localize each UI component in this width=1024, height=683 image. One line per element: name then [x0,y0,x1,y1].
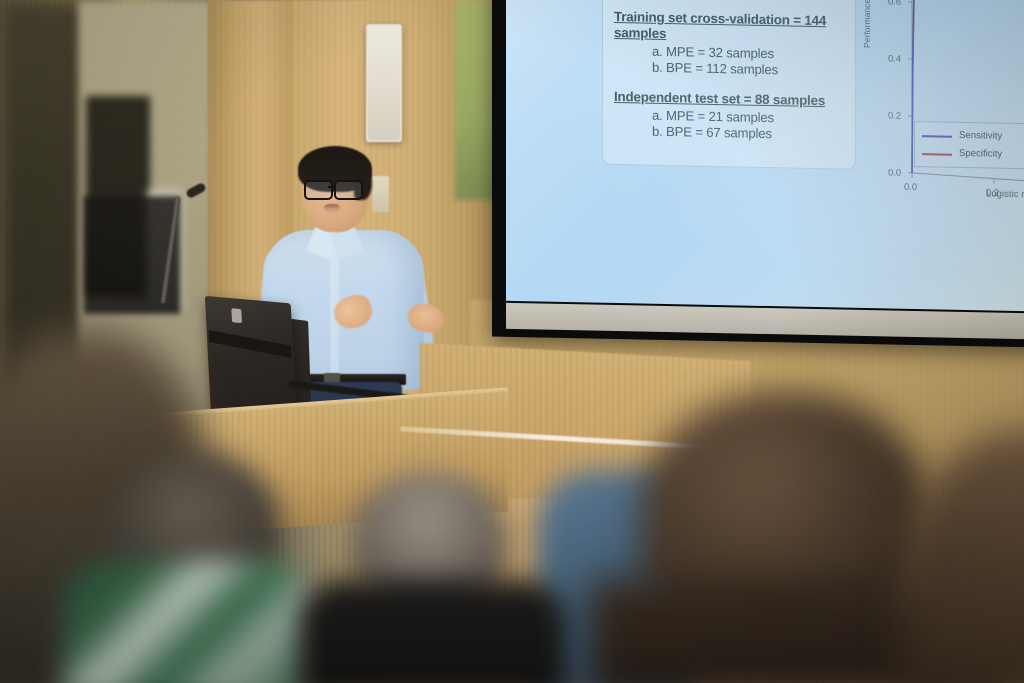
audience-member-green-plaid [62,560,312,683]
chart-ytick-1: 0.2 [888,109,901,120]
legend-swatch-specificity [922,153,952,156]
monitor-hinge-bar [209,330,292,358]
legend-label-specificity: Specificity [959,148,1002,160]
chart-ytick-0: 0.0 [888,166,901,177]
legend-label-sensitivity: Sensitivity [959,130,1002,142]
lecture-hall-photo: (n = 179) c. Paramalignant pleural effus… [0,0,1024,683]
glasses-icon [304,180,366,197]
monitor-label-tag [231,308,242,323]
legend-swatch-sensitivity [922,135,952,138]
chart-y-axis-label: Performance metric score [862,0,872,48]
chart-xtick-1: 0.2 [986,186,999,197]
slide-heading-training-cont: samples [614,25,666,41]
projection-screen-frame: (n = 179) c. Paramalignant pleural effus… [492,0,1024,348]
slide-line-bpe-67: b. BPE = 67 samples [652,124,772,141]
glasses-lens-right [334,180,363,200]
performance-chart: Performance metric score Logistic reg 0.… [866,0,1024,217]
chart-xtick-0: 0.0 [904,181,917,192]
wall-speaker-icon [366,24,402,142]
projection-screen-surface: (n = 179) c. Paramalignant pleural effus… [506,0,1024,311]
glasses-lens-left [304,180,333,200]
presenter-mouth [324,204,340,212]
slide-line-mpe-21: a. MPE = 21 samples [652,108,774,125]
chart-legend: Sensitivity Specificity [914,121,1024,169]
audience-member-black-top [300,580,566,683]
chart-ytick-2: 0.4 [888,52,901,63]
chart-ytick-3: 0.6 [888,0,901,7]
slide-line-mpe-32: a. MPE = 32 samples [652,44,774,61]
slide-line-bpe-112: b. BPE = 112 samples [652,60,778,78]
